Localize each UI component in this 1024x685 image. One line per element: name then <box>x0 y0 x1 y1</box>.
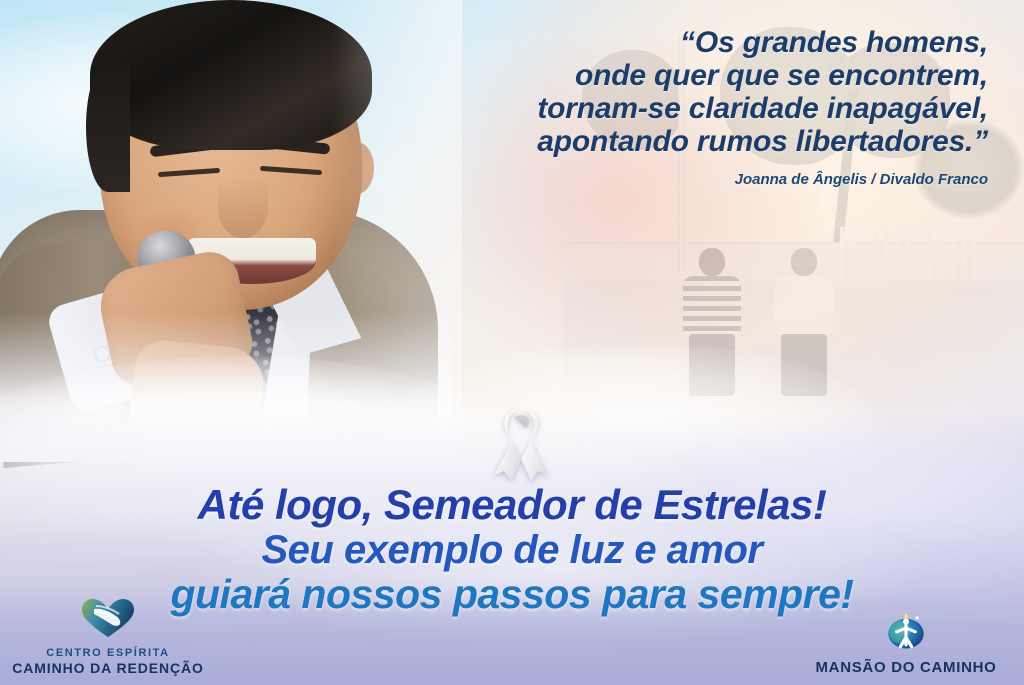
quote-block: “Os grandes homens, onde quer que se enc… <box>368 26 988 188</box>
logo-right-line-1: MANSÃO DO CAMINHO <box>796 659 1016 677</box>
memorial-poster: “Os grandes homens, onde quer que se enc… <box>0 0 1024 685</box>
fence-shape <box>840 227 978 281</box>
figure-legs <box>781 334 827 396</box>
figure-torso <box>775 276 833 334</box>
hair <box>90 0 372 150</box>
nose <box>218 178 268 238</box>
logo-left-line-1: CENTRO ESPÍRITA <box>8 647 208 660</box>
white-ribbon-icon <box>488 405 554 483</box>
globe-figure-flame-icon <box>796 607 1016 656</box>
walking-figure-white <box>775 248 833 396</box>
figure-head <box>791 248 817 276</box>
figure-legs <box>689 334 735 396</box>
quote-line-1: “Os grandes homens, <box>368 26 988 59</box>
figure-head <box>699 248 725 276</box>
logo-mansao-do-caminho[interactable]: MANSÃO DO CAMINHO <box>796 607 1016 677</box>
hair-side <box>86 62 130 192</box>
logo-centro-espirita[interactable]: CENTRO ESPÍRITA CAMINHO DA REDENÇÃO <box>8 597 208 677</box>
walking-figure-striped <box>683 248 741 396</box>
quote-line-3: tornam-se claridade inapagável, <box>368 92 988 125</box>
logo-left-line-2: CAMINHO DA REDENÇÃO <box>8 660 208 677</box>
headline-line-1: Até logo, Semeador de Estrelas! <box>0 482 1024 528</box>
quote-attribution: Joanna de Ângelis / Divaldo Franco <box>368 171 988 188</box>
figure-torso <box>683 276 741 334</box>
quote-line-2: onde quer que se encontrem, <box>368 59 988 92</box>
heart-hands-icon <box>8 597 208 644</box>
quote-line-4: apontando rumos libertadores.” <box>368 125 988 158</box>
headline-line-2: Seu exemplo de luz e amor <box>0 528 1024 572</box>
